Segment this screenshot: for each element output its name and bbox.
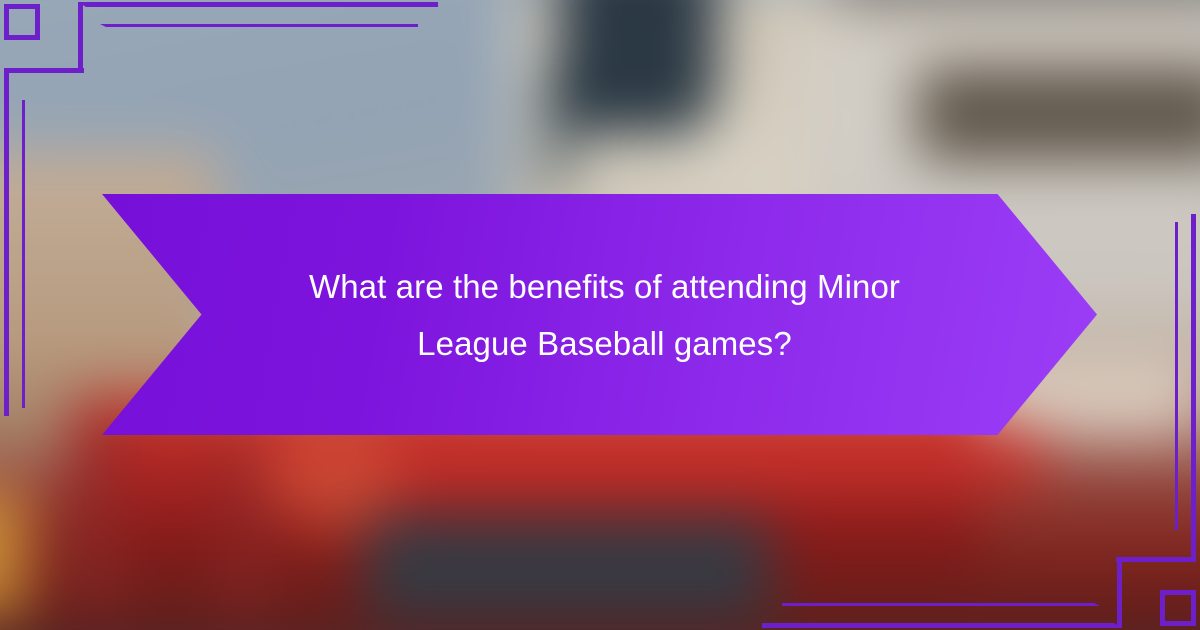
corner-frame-top-left [0, 0, 200, 160]
question-title: What are the benefits of attending Minor… [260, 258, 950, 372]
corner-thick-line-vertical [1117, 558, 1122, 628]
corner-thick-line-down [4, 68, 9, 416]
share-card-canvas: What are the benefits of attending Minor… [0, 0, 1200, 630]
corner-thick-line-vertical [78, 2, 83, 72]
corner-thin-line-vertical [22, 100, 25, 408]
corner-thick-elbow [1116, 557, 1196, 562]
corner-thick-elbow [4, 68, 84, 73]
background-pole-one [81, 405, 115, 617]
background-flag [558, 0, 717, 135]
corner-thin-line-horizontal [100, 24, 418, 27]
background-dark-blob [367, 516, 770, 617]
background-pole-two [229, 437, 261, 617]
background-roof-secondary [918, 66, 1200, 161]
corner-thin-line-horizontal [782, 603, 1100, 606]
corner-thick-line-horizontal [78, 2, 438, 7]
background-yellow-blob [0, 490, 28, 617]
corner-thin-line-vertical [1175, 222, 1178, 530]
corner-frame-bottom-right [1000, 470, 1200, 630]
question-banner: What are the benefits of attending Minor… [102, 194, 1097, 435]
corner-square-icon [1160, 590, 1196, 626]
corner-square-icon [4, 4, 40, 40]
corner-thick-line-up [1191, 214, 1196, 562]
corner-thick-line-horizontal [762, 623, 1122, 628]
